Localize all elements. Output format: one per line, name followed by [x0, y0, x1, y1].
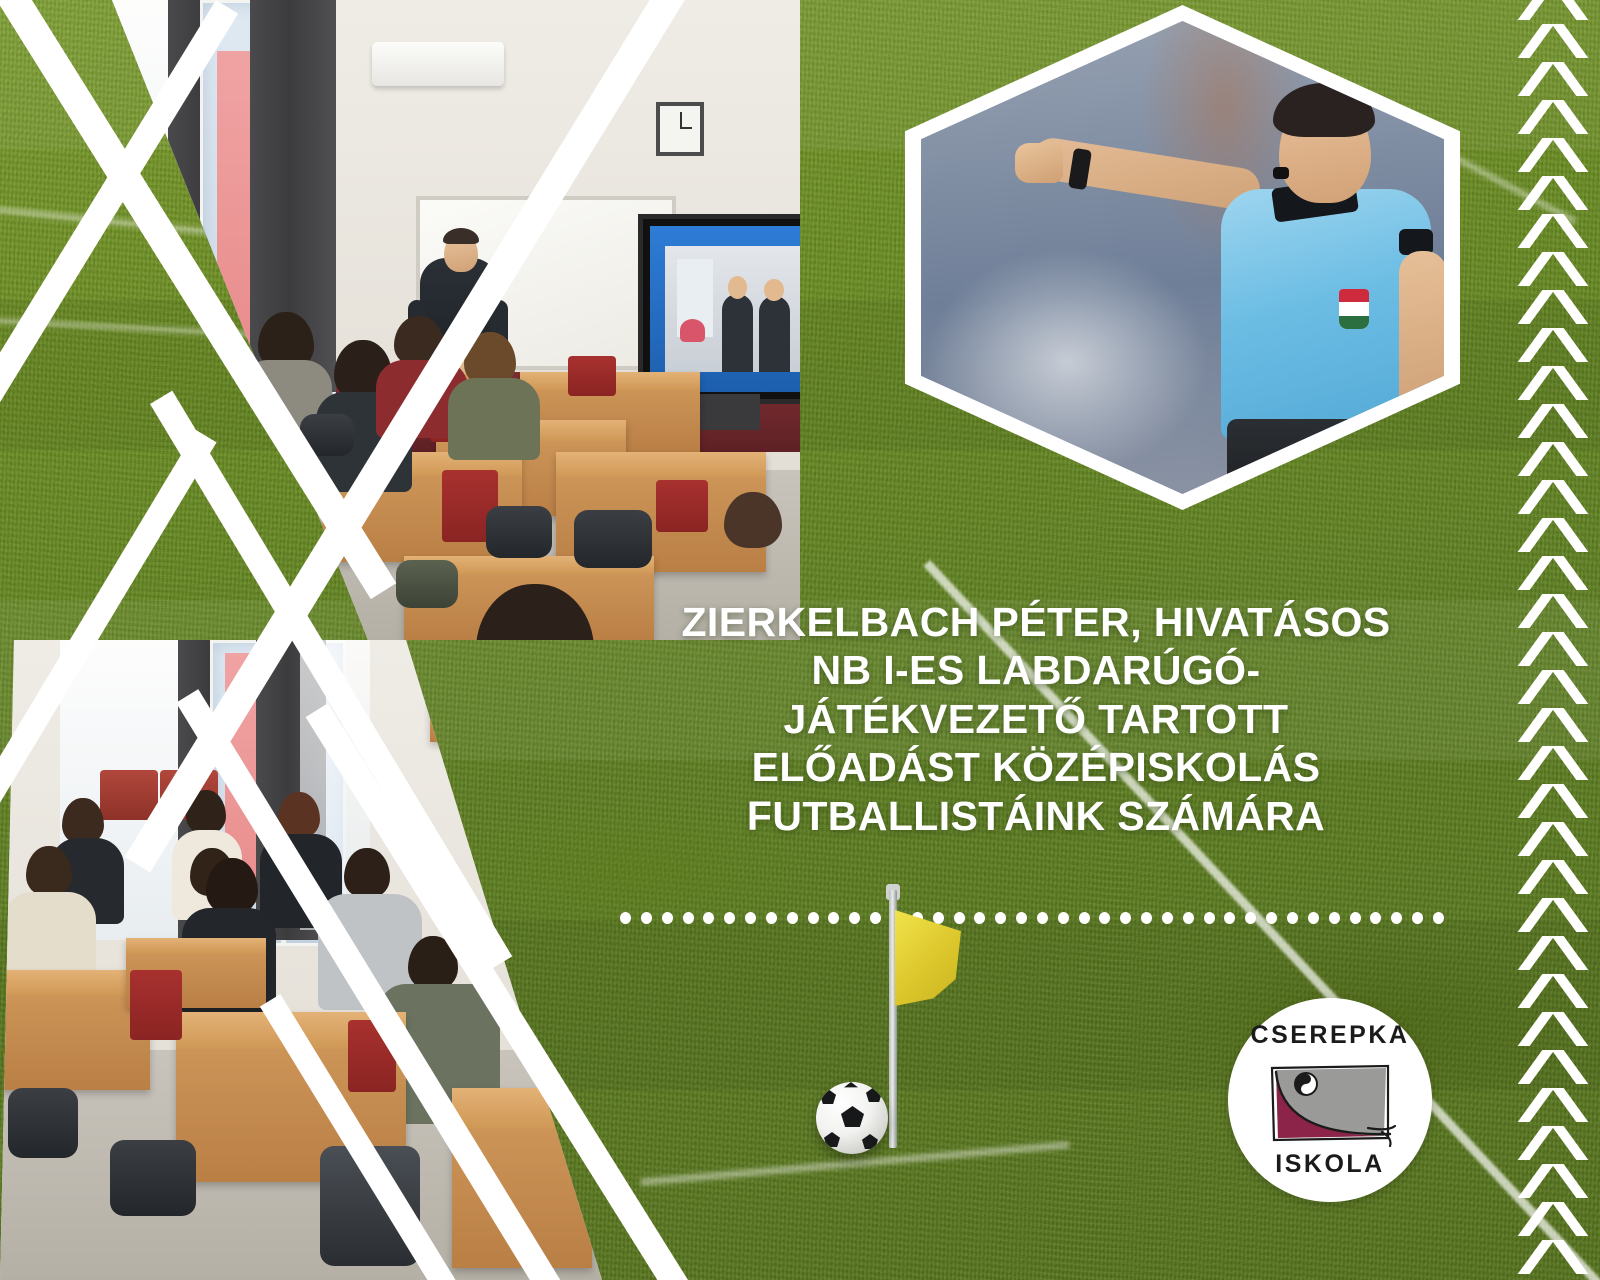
headline-line-5: FUTBALLISTÁINK SZÁMÁRA	[618, 792, 1454, 840]
chevron-down-icon	[1522, 0, 1584, 20]
chevron-down-icon	[1522, 62, 1584, 96]
headline-line-4: ELŐADÁST KÖZÉPISKOLÁS	[618, 743, 1454, 791]
cserepka-iskola-logo: CSEREPKA ISKOLA	[1228, 998, 1432, 1202]
chevron-down-icon	[1522, 1202, 1584, 1236]
chevron-down-icon	[1522, 24, 1584, 58]
divider-dot	[1287, 912, 1298, 924]
divider-dot	[745, 912, 756, 924]
divider-dot	[1433, 912, 1444, 924]
chevron-down-icon	[1522, 860, 1584, 894]
corner-flag-cloth	[895, 910, 961, 1006]
divider-dot	[1266, 912, 1277, 924]
poster-canvas: ZIERKELBACH PÉTER, HIVATÁSOS NB I-ES LAB…	[0, 0, 1600, 1280]
chevron-down-icon	[1522, 366, 1584, 400]
chevron-down-icon	[1522, 404, 1584, 438]
divider-dot	[1120, 912, 1131, 924]
divider-dot	[724, 912, 735, 924]
divider-dot	[683, 912, 694, 924]
chevron-down-icon	[1522, 252, 1584, 286]
chevron-arrow-column	[1522, 0, 1592, 1280]
chevron-down-icon	[1522, 480, 1584, 514]
headline-line-3: JÁTÉKVEZETŐ TARTOTT	[618, 695, 1454, 743]
chevron-down-icon	[1522, 1012, 1584, 1046]
referee-hexagon-photo	[905, 5, 1460, 510]
divider-dot	[808, 912, 819, 924]
chevron-down-icon	[1522, 594, 1584, 628]
divider-dot	[1329, 912, 1340, 924]
divider-dot	[1370, 912, 1381, 924]
chevron-down-icon	[1522, 822, 1584, 856]
divider-dot	[641, 912, 652, 924]
chevron-down-icon	[1522, 784, 1584, 818]
divider-dot	[1079, 912, 1090, 924]
referee-arm	[1029, 135, 1263, 212]
chevron-down-icon	[1522, 556, 1584, 590]
logo-fish-mark	[1264, 1052, 1396, 1148]
chevron-down-icon	[1522, 442, 1584, 476]
soccer-ball	[816, 1082, 888, 1154]
headline-line-1: ZIERKELBACH PÉTER, HIVATÁSOS	[618, 598, 1454, 646]
divider-dot	[703, 912, 714, 924]
chevron-down-icon	[1522, 670, 1584, 704]
divider-dot	[1224, 912, 1235, 924]
divider-dot	[1058, 912, 1069, 924]
divider-dot	[1141, 912, 1152, 924]
divider-dot	[1204, 912, 1215, 924]
chevron-down-icon	[1522, 328, 1584, 362]
chevron-down-icon	[1522, 936, 1584, 970]
divider-dot	[1391, 912, 1402, 924]
headline-line-2: NB I-ES LABDARÚGÓ-	[618, 646, 1454, 694]
chevron-down-icon	[1522, 898, 1584, 932]
divider-dot	[828, 912, 839, 924]
chevron-down-icon	[1522, 632, 1584, 666]
dotted-divider	[620, 911, 1444, 924]
referee-hand	[1015, 143, 1063, 183]
chevron-down-icon	[1522, 1126, 1584, 1160]
divider-dot	[995, 912, 1006, 924]
chevron-down-icon	[1522, 1164, 1584, 1198]
divider-dot	[974, 912, 985, 924]
student	[344, 848, 390, 898]
headline: ZIERKELBACH PÉTER, HIVATÁSOS NB I-ES LAB…	[618, 598, 1454, 840]
chevron-down-icon	[1522, 708, 1584, 742]
referee-earpiece	[1273, 167, 1289, 179]
student	[724, 492, 782, 548]
chevron-down-icon	[1522, 1240, 1584, 1274]
logo-top-text: CSEREPKA	[1251, 1023, 1410, 1048]
mlsz-crest	[1339, 289, 1369, 329]
divider-dot	[620, 912, 631, 924]
chevron-down-icon	[1522, 290, 1584, 324]
chevron-down-icon	[1522, 746, 1584, 780]
chevron-down-icon	[1522, 100, 1584, 134]
student	[206, 858, 258, 914]
chevron-down-icon	[1522, 214, 1584, 248]
divider-dot	[787, 912, 798, 924]
divider-dot	[1245, 912, 1256, 924]
divider-dot	[1183, 912, 1194, 924]
divider-dot	[1099, 912, 1110, 924]
divider-dot	[1016, 912, 1027, 924]
divider-dot	[1162, 912, 1173, 924]
chevron-down-icon	[1522, 518, 1584, 552]
divider-dot	[766, 912, 777, 924]
divider-dot	[1037, 912, 1048, 924]
chevron-down-icon	[1522, 1050, 1584, 1084]
logo-bottom-text: ISKOLA	[1275, 1152, 1384, 1177]
divider-dot	[1412, 912, 1423, 924]
divider-dot	[662, 912, 673, 924]
divider-dot	[1350, 912, 1361, 924]
chevron-down-icon	[1522, 176, 1584, 210]
student	[26, 846, 72, 896]
chevron-down-icon	[1522, 1088, 1584, 1122]
chevron-down-icon	[1522, 974, 1584, 1008]
chevron-down-icon	[1522, 138, 1584, 172]
divider-dot	[1308, 912, 1319, 924]
